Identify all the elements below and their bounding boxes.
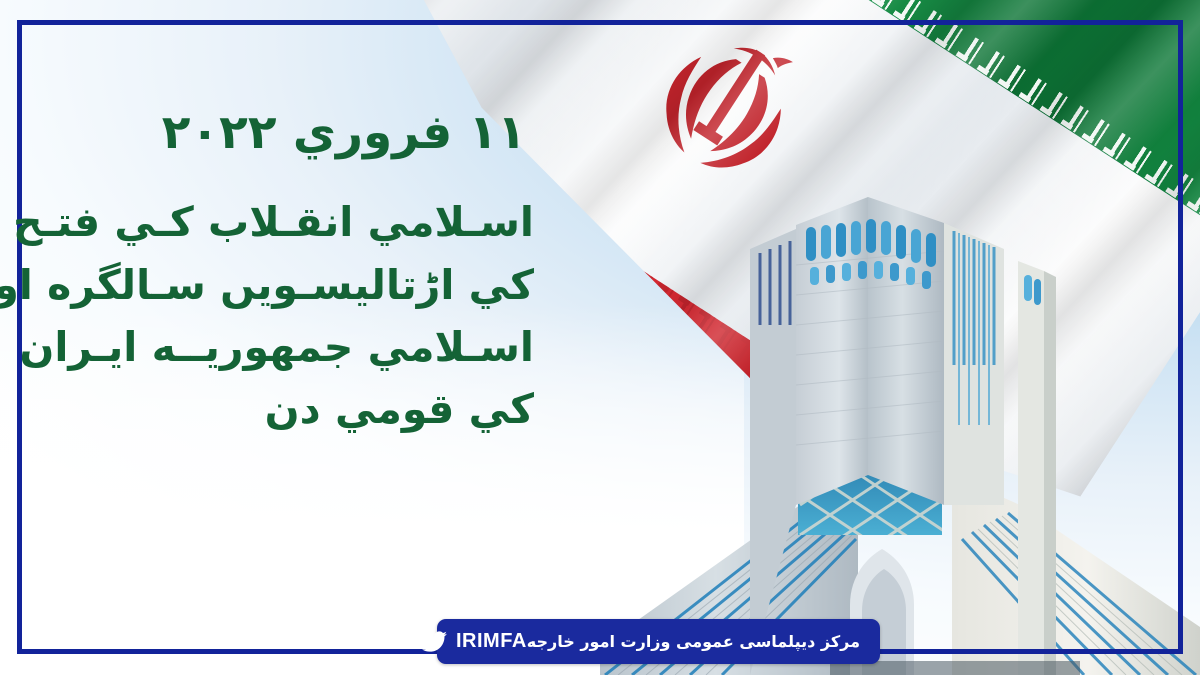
headline-line-4: كي قومي دن <box>20 378 534 440</box>
headline-line-3: اسـلامي جمهوريــه ايـران <box>20 316 534 378</box>
azadi-tower <box>600 175 1200 675</box>
footer-badge[interactable]: مركز ديپلماسى عمومى وزارت امور خارجه IRI… <box>437 619 880 664</box>
twitter-handle-text: IRIMFA <box>456 630 527 653</box>
twitter-handle-group[interactable]: IRIMFA <box>422 629 527 654</box>
event-title: اسـلامي انقـلاب كـي فتـح كي اڑتاليسـويں … <box>20 191 540 440</box>
headline-block: ۱۱ فروري ۲۰۲۲ اسـلامي انقـلاب كـي فتـح ك… <box>20 108 540 441</box>
event-date: ۱۱ فروري ۲۰۲۲ <box>20 108 540 157</box>
headline-line-1: اسـلامي انقـلاب كـي فتـح <box>20 191 534 253</box>
organization-name: مركز ديپلماسى عمومى وزارت امور خارجه <box>527 632 860 651</box>
banner-canvas: ۱۱ فروري ۲۰۲۲ اسـلامي انقـلاب كـي فتـح ك… <box>0 0 1200 675</box>
headline-line-2: كي اڑتاليسـويں سـالگره اور <box>20 254 534 316</box>
twitter-bird-icon[interactable] <box>422 629 447 654</box>
